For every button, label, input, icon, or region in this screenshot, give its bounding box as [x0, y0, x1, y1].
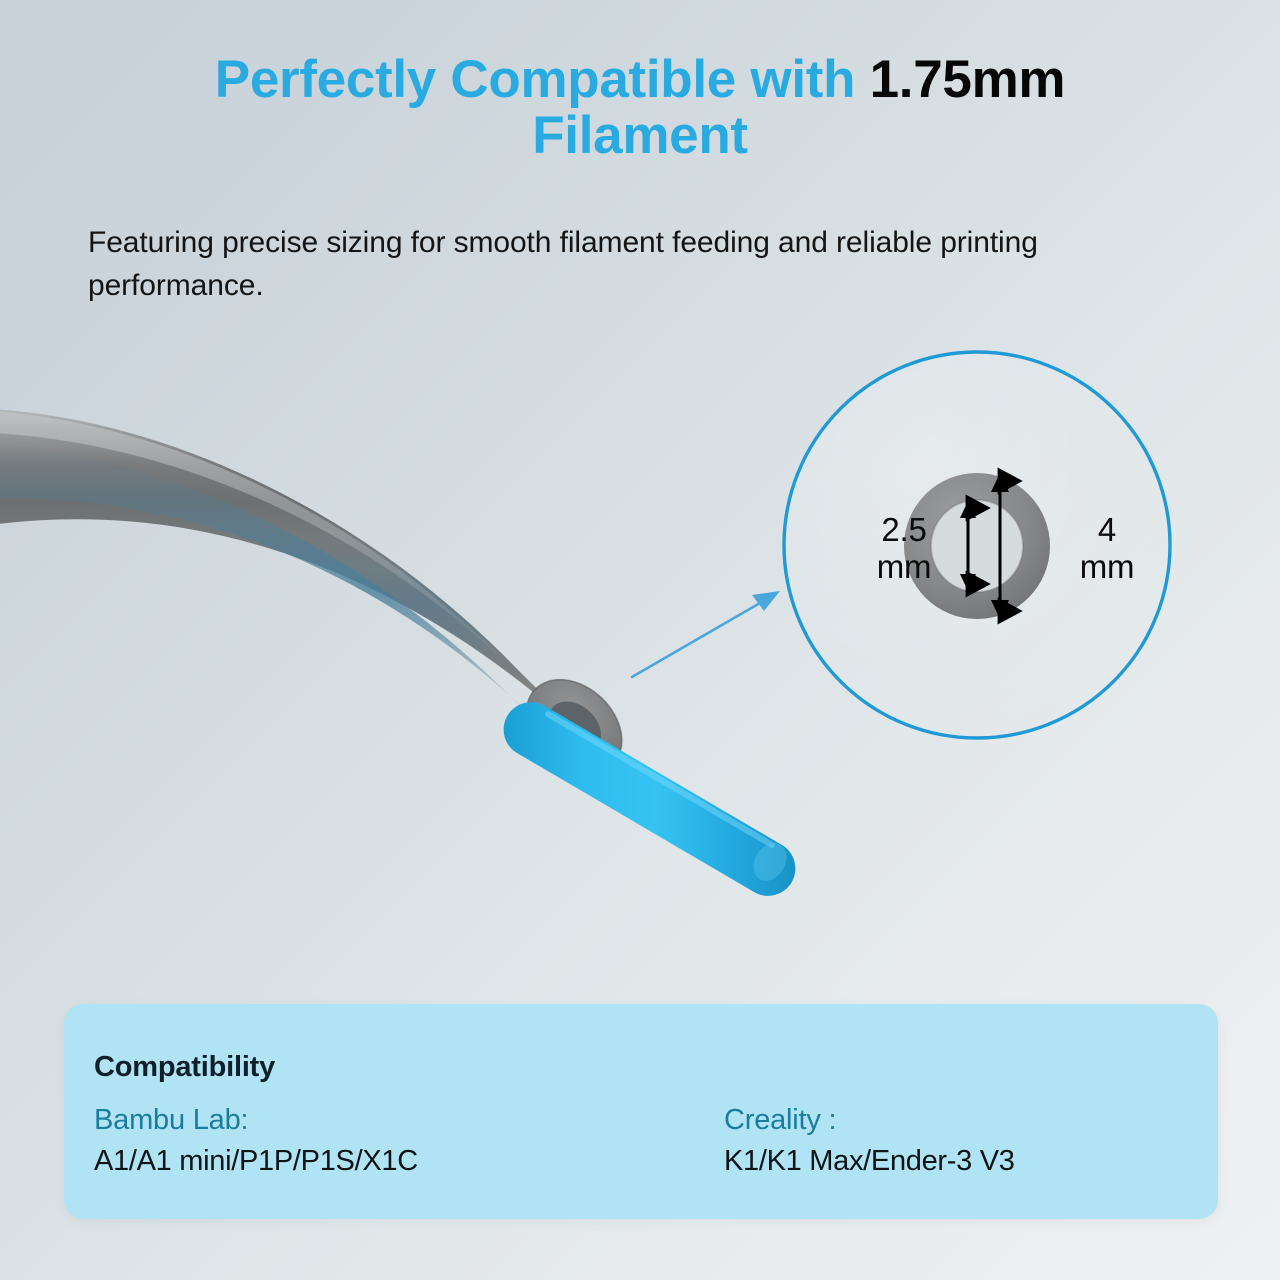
model-list-bambu: A1/A1 mini/P1P/P1S/X1C — [94, 1145, 418, 1178]
outer-diameter-unit: mm — [1052, 549, 1162, 586]
title-line-1: Perfectly Compatible with 1.75mm — [70, 52, 1210, 108]
page-title: Perfectly Compatible with 1.75mm Filamen… — [70, 52, 1210, 164]
ptfe-tube — [0, 408, 641, 793]
infographic-page: Perfectly Compatible with 1.75mm Filamen… — [0, 0, 1280, 1280]
model-list-creality: K1/K1 Max/Ender-3 V3 — [724, 1145, 1015, 1178]
blue-filament — [504, 702, 796, 896]
compatibility-column-bambu: Bambu Lab: A1/A1 mini/P1P/P1S/X1C — [94, 1104, 418, 1178]
title-highlight-size: 1.75mm — [870, 50, 1066, 109]
inner-diameter-label: 2.5 mm — [845, 512, 963, 586]
brand-name-creality: Creality : — [724, 1104, 1015, 1137]
outer-diameter-label: 4 mm — [1052, 512, 1162, 586]
compatibility-heading: Compatibility — [94, 1051, 275, 1084]
title-cyan-part: Perfectly Compatible with — [215, 50, 870, 109]
callout-arrow-icon — [632, 591, 780, 677]
inner-diameter-value: 2.5 — [845, 512, 963, 549]
outer-diameter-value: 4 — [1052, 512, 1162, 549]
page-subtitle: Featuring precise sizing for smooth fila… — [88, 222, 1203, 307]
compatibility-column-creality: Creality : K1/K1 Max/Ender-3 V3 — [724, 1104, 1015, 1178]
title-line-2: Filament — [70, 108, 1210, 164]
inner-diameter-unit: mm — [845, 549, 963, 586]
brand-name-bambu: Bambu Lab: — [94, 1104, 418, 1137]
compatibility-panel: Compatibility Bambu Lab: A1/A1 mini/P1P/… — [64, 1004, 1218, 1219]
